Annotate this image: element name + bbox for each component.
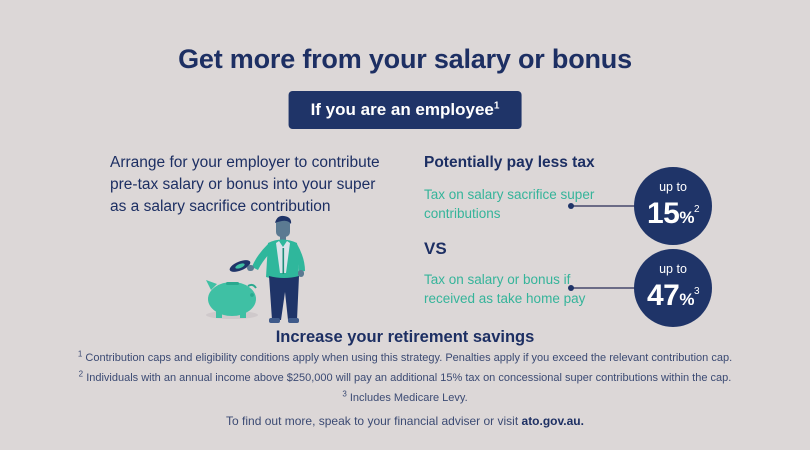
page-title: Get more from your salary or bonus [0, 44, 810, 75]
footnotes-block: 1 Contribution caps and eligibility cond… [0, 350, 810, 433]
employee-badge-footnote-marker: 1 [494, 100, 500, 111]
footnote-text: Includes Medicare Levy. [350, 392, 468, 404]
badge-percent-sign: % [679, 208, 694, 227]
strategy-description: Arrange for your employer to contribute … [110, 152, 385, 218]
person-piggy-bank-illustration [196, 214, 328, 326]
badge-number: 15 [647, 197, 679, 230]
footnote-item: 1 Contribution caps and eligibility cond… [0, 350, 810, 366]
connector-dot-icon [568, 285, 574, 291]
employee-badge-label: If you are an employee [311, 100, 494, 119]
badge-upto-label: up to [659, 263, 687, 276]
footnote-item: 2 Individuals with an annual income abov… [0, 370, 810, 386]
call-to-action-text: To find out more, speak to your financia… [226, 414, 521, 428]
outcome-heading: Increase your retirement savings [0, 328, 810, 347]
badge-footnote-marker: 3 [694, 286, 699, 297]
badge-value: 15%2 [647, 195, 699, 232]
badge-upto-label: up to [659, 181, 687, 194]
option-a-label: Tax on salary sacrifice super contributi… [424, 185, 624, 223]
tax-rate-badge-b: up to 47%3 [634, 249, 712, 327]
option-b-label: Tax on salary or bonus if received as ta… [424, 270, 624, 308]
connector-line-option-a [570, 205, 640, 207]
tax-comparison-heading: Potentially pay less tax [424, 153, 624, 173]
footnote-item: 3 Includes Medicare Levy. [0, 390, 810, 406]
connector-line-option-b [570, 287, 640, 289]
tax-comparison-column: Potentially pay less tax Tax on salary s… [424, 153, 624, 308]
badge-value: 47%3 [647, 277, 699, 314]
versus-label: VS [424, 239, 624, 259]
connector-dot-icon [568, 203, 574, 209]
badge-number: 47 [647, 279, 679, 312]
person-figure [247, 216, 305, 323]
footnote-marker: 3 [342, 389, 346, 398]
employee-badge: If you are an employee1 [289, 91, 522, 129]
tax-rate-badge-a: up to 15%2 [634, 167, 712, 245]
ato-website-link[interactable]: ato.gov.au. [522, 414, 584, 428]
badge-percent-sign: % [679, 290, 694, 309]
badge-footnote-marker: 2 [694, 204, 699, 215]
footnote-marker: 2 [79, 369, 83, 378]
footnote-text: Contribution caps and eligibility condit… [85, 352, 732, 364]
infographic-root: Get more from your salary or bonus If yo… [0, 0, 810, 450]
footnote-marker: 1 [78, 349, 82, 358]
footnote-text: Individuals with an annual income above … [86, 372, 731, 384]
call-to-action: To find out more, speak to your financia… [0, 413, 810, 429]
